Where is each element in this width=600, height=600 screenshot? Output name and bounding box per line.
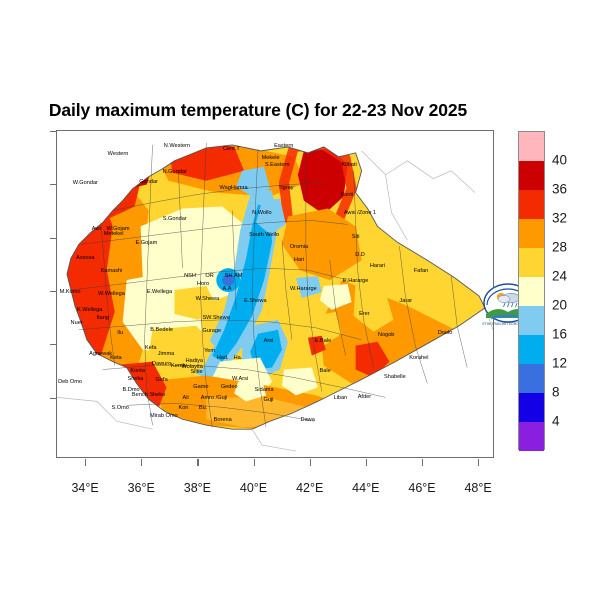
colorbar-band-40plus bbox=[519, 132, 544, 161]
xtick-36e: 36°E bbox=[128, 481, 155, 495]
colorbar[interactable] bbox=[518, 131, 545, 450]
colorbar-tick-4: 4 bbox=[552, 414, 560, 429]
xtick-40e: 40°E bbox=[240, 481, 267, 495]
colorbar-band-20-24 bbox=[519, 277, 544, 306]
colorbar-band-36-40 bbox=[519, 161, 544, 190]
colorbar-tick-32: 32 bbox=[552, 211, 567, 226]
xtick-38e: 38°E bbox=[184, 481, 211, 495]
map-plot-area[interactable]: Western N.Western Cent.T Eastern S.Easte… bbox=[56, 130, 494, 458]
colorbar-tick-12: 12 bbox=[552, 356, 567, 371]
colorbar-band-24-28 bbox=[519, 248, 544, 277]
xtick-34e: 34°E bbox=[71, 481, 98, 495]
ethiopia-temperature-choropleth bbox=[57, 131, 493, 457]
colorbar-band-8-12 bbox=[519, 364, 544, 393]
colorbar-tick-40: 40 bbox=[552, 153, 567, 168]
colorbar-tick-36: 36 bbox=[552, 182, 567, 197]
colorbar-tick-28: 28 bbox=[552, 240, 567, 255]
xtick-46e: 46°E bbox=[408, 481, 435, 495]
colorbar-band-28-32 bbox=[519, 219, 544, 248]
colorbar-band-4-8 bbox=[519, 393, 544, 422]
figure-canvas: Daily maximum temperature (C) for 22-23 … bbox=[0, 0, 600, 600]
colorbar-band-12-16 bbox=[519, 335, 544, 364]
colorbar-band-32-36 bbox=[519, 190, 544, 219]
colorbar-tick-24: 24 bbox=[552, 269, 567, 284]
colorbar-band-lt4 bbox=[519, 422, 544, 451]
xtick-42e: 42°E bbox=[296, 481, 323, 495]
xtick-48e: 48°E bbox=[464, 481, 491, 495]
page-title: Daily maximum temperature (C) for 22-23 … bbox=[0, 100, 516, 121]
colorbar-tick-8: 8 bbox=[552, 385, 560, 400]
colorbar-band-16-20 bbox=[519, 306, 544, 335]
colorbar-tick-16: 16 bbox=[552, 327, 567, 342]
colorbar-tick-20: 20 bbox=[552, 298, 567, 313]
xtick-44e: 44°E bbox=[352, 481, 379, 495]
